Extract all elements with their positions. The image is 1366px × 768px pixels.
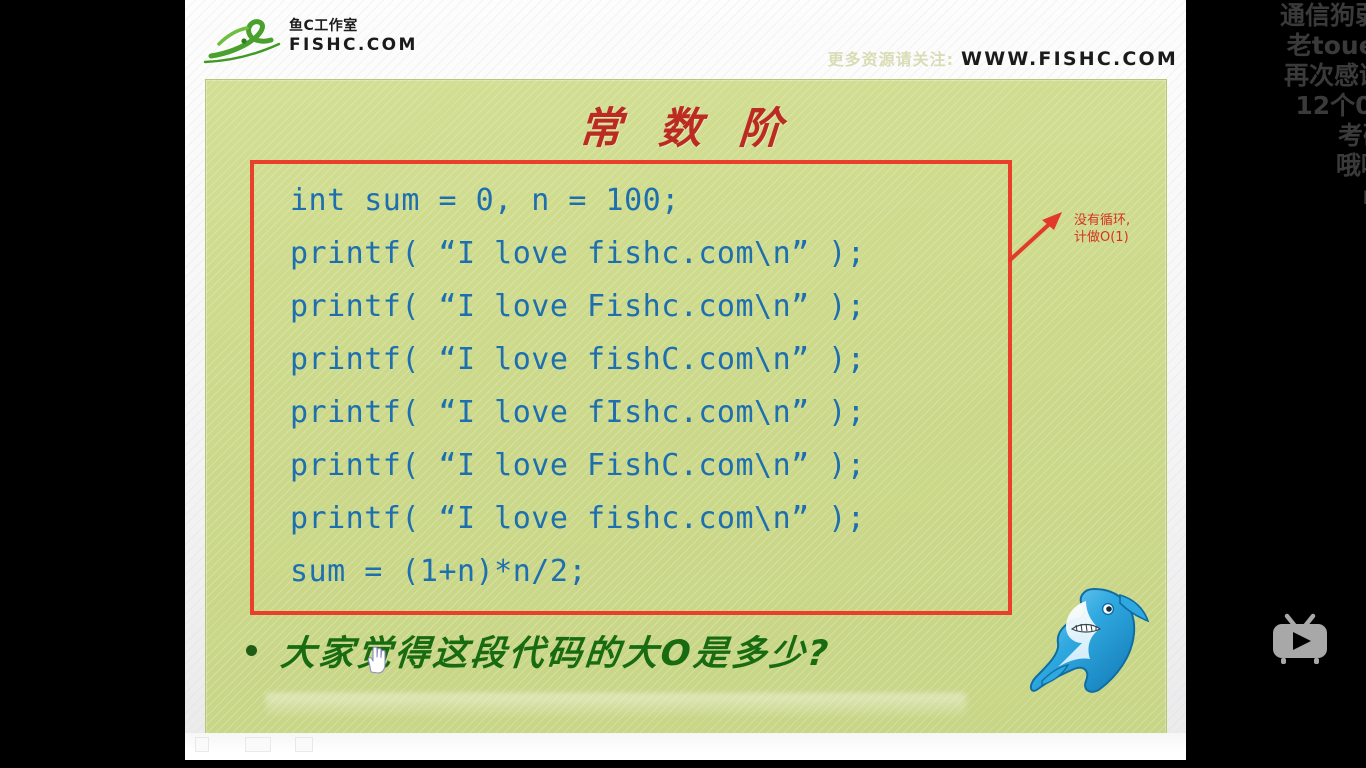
code-line: printf( “I love Fishc.com\n” ); xyxy=(290,280,1002,333)
slide-header: 鱼C工作室 FISHC.COM 更多资源请关注: WWW.FISHC.COM xyxy=(185,0,1186,78)
toolbar-ghost-item[interactable] xyxy=(295,737,313,752)
code-line: printf( “I love fishc.com\n” ); xyxy=(290,227,1002,280)
danmaku-line: 考研 xyxy=(1338,122,1366,149)
annotation-text: 没有循环, 计做O(1) xyxy=(1074,212,1166,246)
danmaku-line: 老touer xyxy=(1287,32,1366,59)
slide-reflection xyxy=(266,693,966,719)
slide-title: 常 数 阶 xyxy=(205,94,1167,156)
slide-paper-frame: 鱼C工作室 FISHC.COM 更多资源请关注: WWW.FISHC.COM 常… xyxy=(185,0,1186,745)
bilibili-play-icon[interactable] xyxy=(1265,608,1335,672)
logo-chinese-name: 鱼C工作室 xyxy=(289,18,418,35)
fishc-logo: 鱼C工作室 FISHC.COM xyxy=(203,12,413,68)
annotation-group: 没有循环, 计做O(1) xyxy=(1006,190,1166,270)
danmaku-line: 哦哦 xyxy=(1336,152,1366,179)
danmaku-line: n xyxy=(1362,182,1366,209)
code-line: printf( “I love fIshc.com\n” ); xyxy=(290,386,1002,439)
promo-label: 更多资源请关注: xyxy=(828,46,954,70)
annotation-line: 没有循环, xyxy=(1074,212,1166,229)
fishc-brush-logo-icon xyxy=(203,14,295,66)
toolbar-ghost-item[interactable] xyxy=(195,737,209,752)
slide-canvas: 常 数 阶 int sum = 0, n = 100; printf( “I l… xyxy=(205,79,1167,736)
slide-bottom-toolbar[interactable] xyxy=(185,733,1186,760)
code-line: printf( “I love fishC.com\n” ); xyxy=(290,333,1002,386)
danmaku-line: 12个0, xyxy=(1295,92,1366,119)
shark-mascot-icon xyxy=(1024,585,1152,697)
header-promo: 更多资源请关注: WWW.FISHC.COM xyxy=(828,46,1178,70)
question-row: 大家觉得这段代码的大O是多少? xyxy=(246,625,831,676)
screen-root: 鱼C工作室 FISHC.COM 更多资源请关注: WWW.FISHC.COM 常… xyxy=(0,0,1366,768)
code-lines: int sum = 0, n = 100; printf( “I love fi… xyxy=(290,174,1002,598)
annotation-arrow-icon xyxy=(1006,208,1068,264)
question-text: 大家觉得这段代码的大O是多少? xyxy=(279,625,834,676)
logo-domain: FISHC.COM xyxy=(289,35,418,55)
danmaku-line: 通信狗弱 xyxy=(1280,2,1366,29)
bullet-icon xyxy=(246,645,257,656)
promo-url: WWW.FISHC.COM xyxy=(961,48,1178,70)
annotation-line: 计做O(1) xyxy=(1074,229,1166,246)
toolbar-ghost-item[interactable] xyxy=(245,737,271,752)
code-line: printf( “I love FishC.com\n” ); xyxy=(290,439,1002,492)
code-line: printf( “I love fishc.com\n” ); xyxy=(290,492,1002,545)
code-line: sum = (1+n)*n/2; xyxy=(290,545,1002,598)
video-player-viewport[interactable]: 鱼C工作室 FISHC.COM 更多资源请关注: WWW.FISHC.COM 常… xyxy=(185,0,1186,760)
danmaku-line: 再次感谢 xyxy=(1284,62,1366,89)
fishc-logo-text: 鱼C工作室 FISHC.COM xyxy=(289,18,418,55)
code-block: int sum = 0, n = 100; printf( “I love fi… xyxy=(250,160,1012,615)
code-line: int sum = 0, n = 100; xyxy=(290,174,1002,227)
